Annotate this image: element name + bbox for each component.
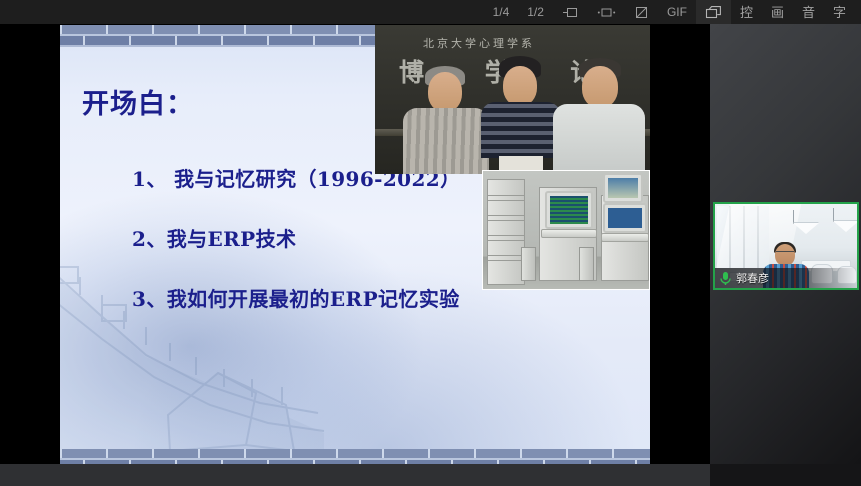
participant-video-tile[interactable]: 郭春彦 [713,202,859,290]
toolbar-item-picture-quality-menu[interactable]: 画 [762,0,793,24]
toolbar-item-gif-capture[interactable]: GIF [658,0,696,24]
erp-lab-equipment-photo [482,170,650,290]
participant-name-badge: 郭春彦 [715,268,857,288]
player-bottom-bar[interactable] [0,464,861,486]
toolbar-item-controls-menu[interactable]: 控 [731,0,762,24]
presentation-slide: 开场白： 1、 我与记忆研究（1996-2022） 2、我与ERP技术 3、我如… [60,25,650,464]
microphone-icon [719,271,732,286]
toolbar-item-audio-menu[interactable]: 音 [793,0,824,24]
crop-screenshot-icon[interactable] [625,0,658,24]
three-researchers-photo: 北京大学心理学系 博 学 论 答辩 [375,25,650,174]
blackboard-text-line-1: 北京大学心理学系 [423,35,535,51]
slide-title: 开场白： [82,82,194,121]
video-player-window: 1/4 1/2 GIF [0,0,861,486]
bottom-bar-right-section [710,464,861,486]
participant-name: 郭春彦 [736,273,769,284]
toolbar-item-quarter-speed[interactable]: 1/4 [484,0,519,24]
toolbar-item-subtitles-menu[interactable]: 字 [824,0,855,24]
toolbar-item-half-speed[interactable]: 1/2 [518,0,553,24]
picture-in-picture-icon[interactable] [696,0,731,24]
align-left-layout-icon[interactable] [553,0,588,24]
center-layout-icon[interactable] [588,0,625,24]
slide-brick-border-bottom [60,449,650,464]
player-toolbar: 1/4 1/2 GIF [0,0,861,24]
